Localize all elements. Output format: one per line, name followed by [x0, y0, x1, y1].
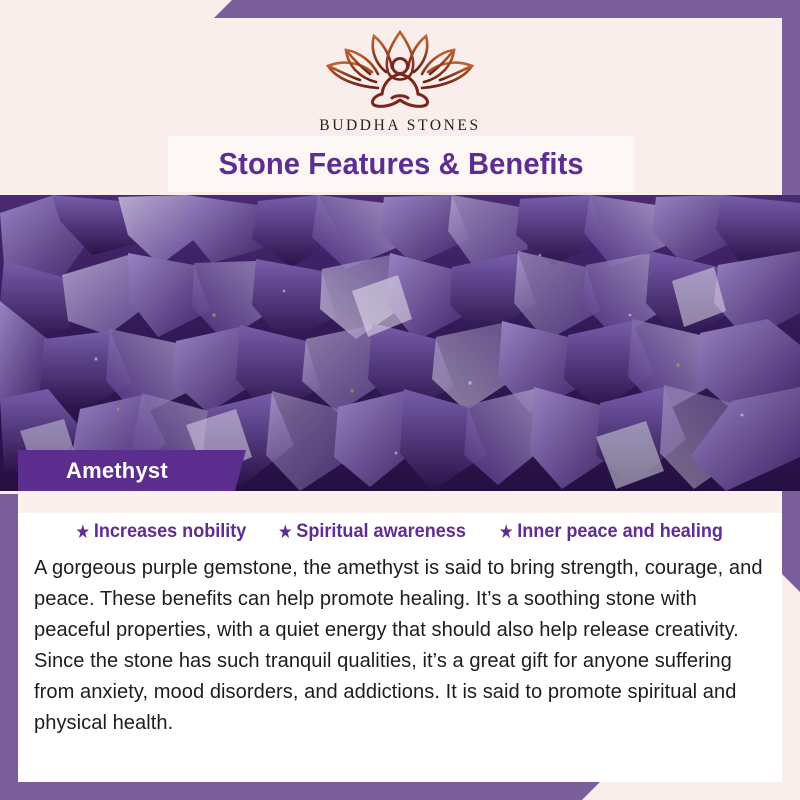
- benefit-item-1: ★ Spiritual awareness: [278, 521, 466, 543]
- lotus-meditation-icon: [316, 26, 484, 110]
- brand-name: BUDDHA STONES: [319, 117, 480, 135]
- frame-band-bottom: [0, 782, 600, 800]
- frame-band-left: [0, 494, 18, 784]
- title-banner: Stone Features & Benefits: [168, 136, 634, 192]
- brand-logo: BUDDHA STONES: [316, 26, 484, 135]
- stone-name-text: Amethyst: [66, 458, 168, 484]
- star-icon: ★: [499, 523, 514, 542]
- star-icon: ★: [278, 523, 293, 542]
- stone-photo: [0, 195, 800, 491]
- benefit-item-0: ★ Increases nobility: [76, 521, 247, 543]
- stone-info-card: BUDDHA STONES: [0, 0, 800, 800]
- benefits-row: ★ Increases nobility ★ Spiritual awarene…: [18, 515, 782, 549]
- star-icon: ★: [76, 523, 91, 542]
- benefit-label: Inner peace and healing: [517, 521, 723, 543]
- content-top-divider: [18, 491, 782, 513]
- benefit-label: Spiritual awareness: [296, 521, 466, 543]
- benefit-label: Increases nobility: [94, 521, 246, 543]
- benefit-item-2: ★ Inner peace and healing: [499, 521, 723, 543]
- stone-description: A gorgeous purple gemstone, the amethyst…: [34, 553, 765, 739]
- stone-name-label: Amethyst: [18, 450, 246, 491]
- page-title: Stone Features & Benefits: [218, 146, 583, 182]
- content-panel: ★ Increases nobility ★ Spiritual awarene…: [18, 491, 782, 782]
